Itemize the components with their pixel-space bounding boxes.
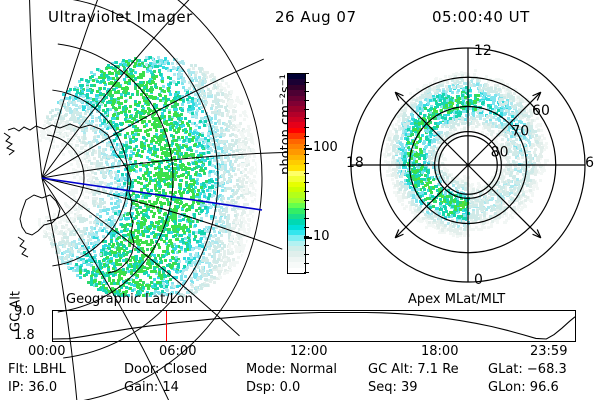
status-field: Dsp: 0.0 [246, 380, 300, 395]
colorbar-ticks [304, 73, 311, 272]
status-field-label: GC Alt: [368, 362, 417, 377]
observation-time: 05:00:40 UT [432, 8, 530, 26]
orbit-altitude-curve [53, 311, 575, 341]
svg-text:6: 6 [585, 155, 594, 171]
status-field-value: 36.0 [28, 380, 57, 395]
status-field-label: Seq: [368, 380, 401, 395]
svg-text:18: 18 [346, 155, 364, 171]
status-field-value: Closed [164, 362, 208, 377]
magnetic-polar-plot: 120186607080 [340, 45, 600, 295]
status-field-label: Mode: [246, 362, 290, 377]
status-bar: Flt: LBHLDoor: ClosedMode: NormalGC Alt:… [0, 362, 600, 400]
status-row-primary: Flt: LBHLDoor: ClosedMode: NormalGC Alt:… [0, 362, 600, 379]
orbit-x-tick: 12:00 [290, 344, 327, 359]
status-row-secondary: IP: 36.0Gain: 14Dsp: 0.0Seq: 39GLon: 96.… [0, 380, 600, 397]
current-time-marker [166, 311, 167, 341]
orbit-x-tick: 23:59 [530, 344, 567, 359]
geographic-panel [0, 45, 262, 295]
status-field-label: GLat: [488, 362, 527, 377]
status-field: GC Alt: 7.1 Re [368, 362, 459, 377]
status-field-label: Gain: [124, 380, 162, 395]
orbit-y-tick-high: 9.0 [14, 304, 35, 319]
colorbar-tick-label-100: 100 [313, 141, 338, 154]
status-field: Mode: Normal [246, 362, 337, 377]
status-field-value: Normal [290, 362, 337, 377]
aurora-emission-magnetic [383, 69, 549, 238]
status-field-label: Door: [124, 362, 164, 377]
svg-text:12: 12 [474, 43, 492, 59]
mag-panel-caption: Apex MLat/MLT [408, 292, 505, 307]
orbit-plot-frame [52, 310, 576, 342]
geo-panel-caption: Geographic Lat/Lon [66, 292, 193, 307]
orbit-x-tick: 18:00 [421, 344, 458, 359]
colorbar: photon cm⁻²s⁻¹ 100 10 [262, 55, 352, 285]
status-field-value: 14 [162, 380, 179, 395]
status-field-label: GLon: [488, 380, 530, 395]
status-field: Door: Closed [124, 362, 207, 377]
status-field: GLon: 96.6 [488, 380, 559, 395]
svg-text:0: 0 [474, 272, 483, 288]
page-title: Ultraviolet Imager [48, 8, 193, 26]
status-field: IP: 36.0 [8, 380, 57, 395]
status-field-label: Flt: [8, 362, 33, 377]
svg-text:80: 80 [491, 144, 509, 160]
status-field: Flt: LBHL [8, 362, 66, 377]
magnetic-panel: 120186607080 [340, 45, 600, 295]
orbit-altitude-plot: Geographic Lat/Lon Apex MLat/MLT GC Alt … [0, 292, 600, 354]
status-field-label: IP: [8, 380, 28, 395]
svg-text:60: 60 [532, 103, 550, 119]
orbit-y-tick-low: 1.8 [14, 328, 35, 343]
status-field-value: LBHL [33, 362, 66, 377]
status-field-value: 7.1 Re [417, 362, 458, 377]
colorbar-tick-label-10: 10 [313, 230, 330, 243]
status-field-value: 0.0 [280, 380, 301, 395]
orbit-x-tick: 00:00 [28, 344, 65, 359]
mlat-mlt-graticule [351, 48, 585, 282]
status-field-value: −68.3 [527, 362, 567, 377]
orbit-x-tick: 06:00 [159, 344, 196, 359]
status-field-label: Dsp: [246, 380, 280, 395]
geographic-plot [0, 45, 262, 295]
colorbar-band [288, 268, 305, 273]
status-field-value: 96.6 [530, 380, 559, 395]
status-field: GLat: −68.3 [488, 362, 567, 377]
svg-text:70: 70 [511, 124, 529, 140]
observation-date: 26 Aug 07 [275, 8, 357, 26]
status-field: Seq: 39 [368, 380, 418, 395]
status-field: Gain: 14 [124, 380, 179, 395]
status-field-value: 39 [401, 380, 418, 395]
